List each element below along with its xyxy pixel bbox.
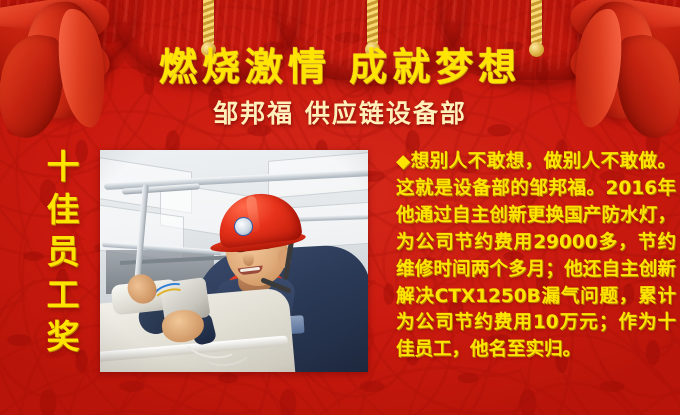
poster-title: 燃烧激情 成就梦想 — [0, 36, 680, 91]
award-label-char: 工 — [40, 274, 86, 317]
award-label-char: 奖 — [40, 316, 86, 359]
photo-vignette — [100, 150, 368, 372]
award-label-char: 十 — [40, 146, 86, 189]
award-citation-text: ◆想别人不敢想，做别人不敢做。这就是设备部的邹邦福。2016年他通过自主创新更换… — [396, 149, 676, 364]
employee-photo — [100, 150, 368, 372]
poster-subtitle: 邹邦福 供应链设备部 — [0, 94, 680, 130]
award-label-char: 佳 — [40, 189, 86, 232]
award-vertical-label: 十 佳 员 工 奖 — [40, 146, 86, 359]
award-label-char: 员 — [40, 231, 86, 274]
award-poster: 燃烧激情 成就梦想 邹邦福 供应链设备部 十 佳 员 工 奖 — [0, 0, 680, 415]
